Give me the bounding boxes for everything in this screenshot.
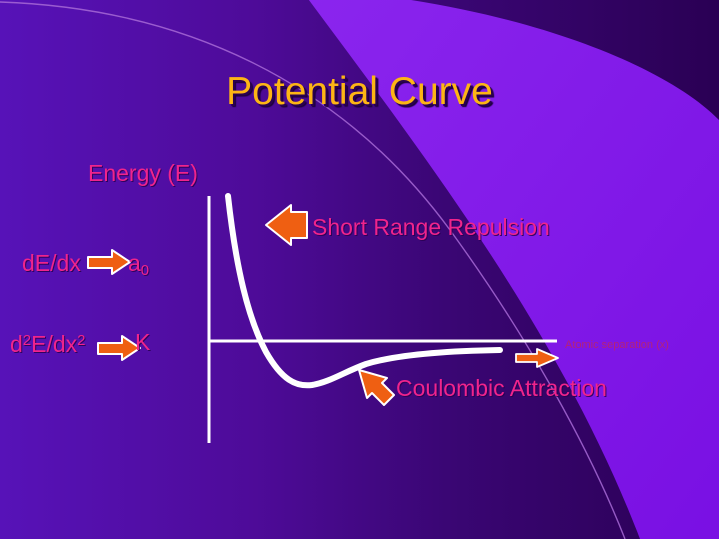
coulombic-attraction-label: Coulombic Attraction <box>396 375 607 402</box>
d2-superscript-2: 2 <box>77 332 85 349</box>
second-derivative-arrow <box>98 336 140 360</box>
first-derivative-arrow <box>88 250 130 274</box>
y-axis-label: Energy (E) <box>88 160 198 187</box>
d2-base: d <box>10 331 23 357</box>
equilibrium-separation-label: a0 <box>128 250 149 279</box>
first-derivative-label: dE/dx <box>22 250 81 277</box>
short-range-repulsion-arrow <box>266 205 307 245</box>
slide-canvas: Potential Curve Energy (E) dE/dx a0 d2E/… <box>0 0 719 539</box>
force-constant-label: K <box>135 329 150 356</box>
short-range-repulsion-label: Short Range Repulsion <box>312 214 550 241</box>
x-axis-label: Atomic separation (x) <box>565 339 669 351</box>
second-derivative-label: d2E/dx2 <box>10 331 86 358</box>
x-axis-direction-arrow <box>516 349 558 367</box>
slide-title: Potential Curve <box>0 70 719 114</box>
d2-mid: E/dx <box>31 331 77 357</box>
coulombic-attraction-arrow <box>359 370 394 405</box>
d2-superscript-1: 2 <box>23 332 31 349</box>
a0-subscript: 0 <box>141 262 149 279</box>
a0-base: a <box>128 250 141 276</box>
